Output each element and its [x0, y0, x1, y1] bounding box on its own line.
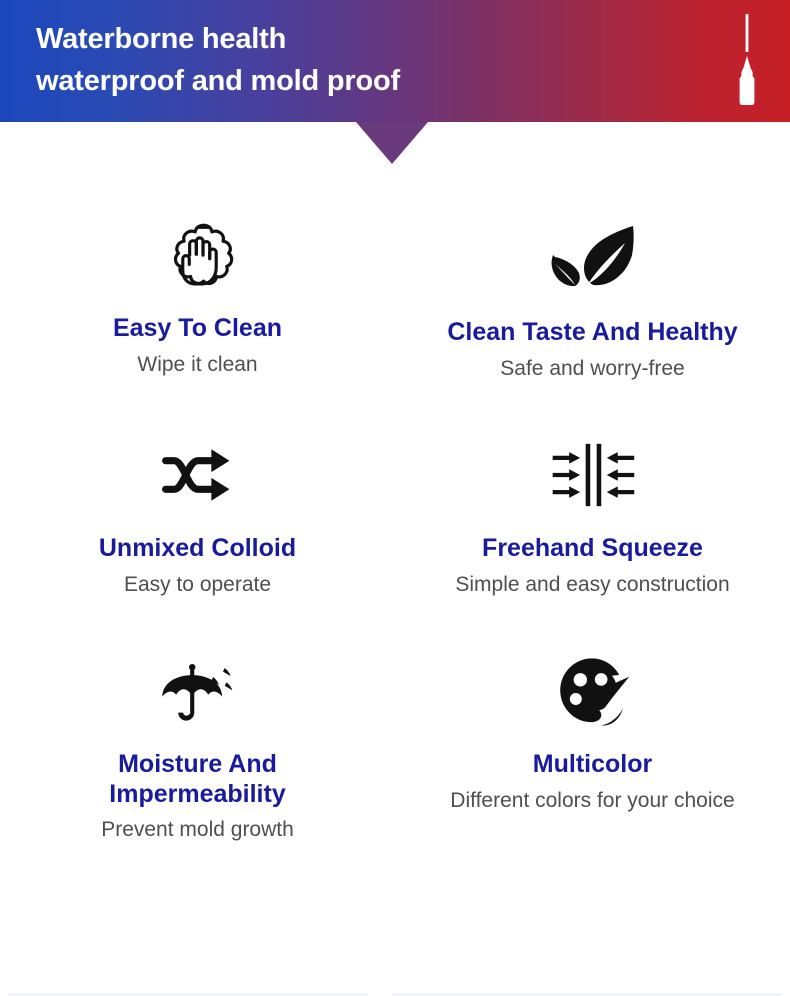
banner-pointer-arrow: [356, 122, 428, 164]
feature-title: Multicolor: [533, 750, 652, 780]
feature-grid: Easy To Clean Wipe it clean Clean Taste …: [0, 196, 790, 850]
paint-palette-icon: [553, 654, 633, 732]
feature-item: Freehand Squeeze Simple and easy constru…: [395, 414, 790, 632]
glue-bottle-icon: [730, 10, 764, 110]
feature-subtitle: Wipe it clean: [137, 352, 257, 377]
umbrella-rain-icon: [157, 654, 239, 732]
feature-title: Easy To Clean: [113, 314, 282, 344]
shuffle-arrows-icon: [158, 436, 238, 514]
feature-title: Unmixed Colloid: [99, 534, 296, 564]
feature-subtitle: Easy to operate: [124, 572, 271, 597]
feature-item: Multicolor Different colors for your cho…: [395, 632, 790, 850]
header-banner: Waterborne health waterproof and mold pr…: [0, 0, 790, 122]
feature-title: Clean Taste And Healthy: [447, 318, 737, 348]
product-feature-infographic: Waterborne health waterproof and mold pr…: [0, 0, 790, 996]
feature-subtitle: Simple and easy construction: [455, 572, 729, 597]
feature-title: Freehand Squeeze: [482, 534, 703, 564]
feature-item: Moisture And Impermeability Prevent mold…: [0, 632, 395, 850]
feature-item: Clean Taste And Healthy Safe and worry-f…: [395, 196, 790, 414]
feature-item: Easy To Clean Wipe it clean: [0, 196, 395, 414]
banner-title: Waterborne health waterproof and mold pr…: [36, 18, 400, 102]
feature-subtitle: Prevent mold growth: [101, 817, 294, 842]
feature-title: Moisture And Impermeability: [109, 750, 285, 809]
leaf-icon: [545, 218, 641, 296]
feature-subtitle: Different colors for your choice: [450, 788, 734, 813]
feature-item: Unmixed Colloid Easy to operate: [0, 414, 395, 632]
wiping-hand-icon: [159, 218, 237, 296]
feature-subtitle: Safe and worry-free: [500, 356, 684, 381]
compress-arrows-icon: [545, 436, 641, 514]
footer-area: [0, 900, 790, 996]
